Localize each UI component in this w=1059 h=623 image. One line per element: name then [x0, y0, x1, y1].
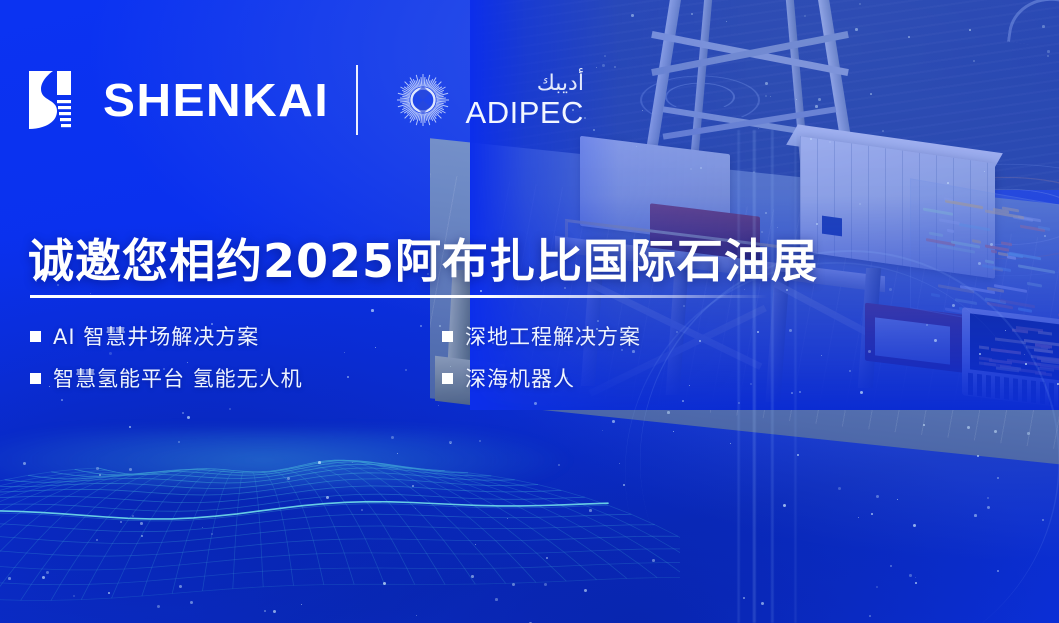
adipec-promo-banner: SHENKAI أديبك ADIPEC 诚邀您相约2025阿布扎比国际石油展	[0, 0, 1059, 623]
title-divider	[30, 295, 768, 298]
feature-row: 智慧氢能平台 氢能无人机 深海机器人	[30, 357, 750, 399]
feature-list: AI 智慧井场解决方案 深地工程解决方案 智慧氢能平台 氢能无人机 深海机器人	[30, 315, 750, 399]
adipec-arabic-name: أديبك	[466, 73, 584, 95]
list-item: 智慧氢能平台 氢能无人机	[30, 363, 442, 393]
adipec-name: ADIPEC	[466, 97, 584, 128]
banner-content: SHENKAI أديبك ADIPEC 诚邀您相约2025阿布扎比国际石油展	[0, 0, 1059, 623]
shenkai-wordmark: SHENKAI	[103, 77, 329, 123]
feature-label: AI 智慧井场解决方案	[53, 321, 259, 351]
feature-label: 智慧氢能平台 氢能无人机	[53, 363, 303, 393]
list-item: 深海机器人	[442, 363, 575, 393]
bullet-square-icon	[30, 331, 41, 342]
logo-row: SHENKAI أديبك ADIPEC	[27, 63, 584, 137]
logo-divider	[356, 65, 358, 135]
shenkai-logo-mark-icon	[27, 69, 83, 131]
bullet-square-icon	[442, 331, 453, 342]
page-title: 诚邀您相约2025阿布扎比国际石油展	[28, 225, 818, 291]
feature-label: 深地工程解决方案	[465, 321, 641, 351]
adipec-logo-mark-icon	[392, 69, 454, 131]
adipec-logo: أديبك ADIPEC	[392, 69, 584, 131]
bullet-square-icon	[30, 373, 41, 384]
bullet-square-icon	[442, 373, 453, 384]
list-item: AI 智慧井场解决方案	[30, 321, 442, 351]
feature-label: 深海机器人	[465, 363, 575, 393]
feature-row: AI 智慧井场解决方案 深地工程解决方案	[30, 315, 750, 357]
list-item: 深地工程解决方案	[442, 321, 641, 351]
adipec-text-lockup: أديبك ADIPEC	[466, 73, 584, 128]
